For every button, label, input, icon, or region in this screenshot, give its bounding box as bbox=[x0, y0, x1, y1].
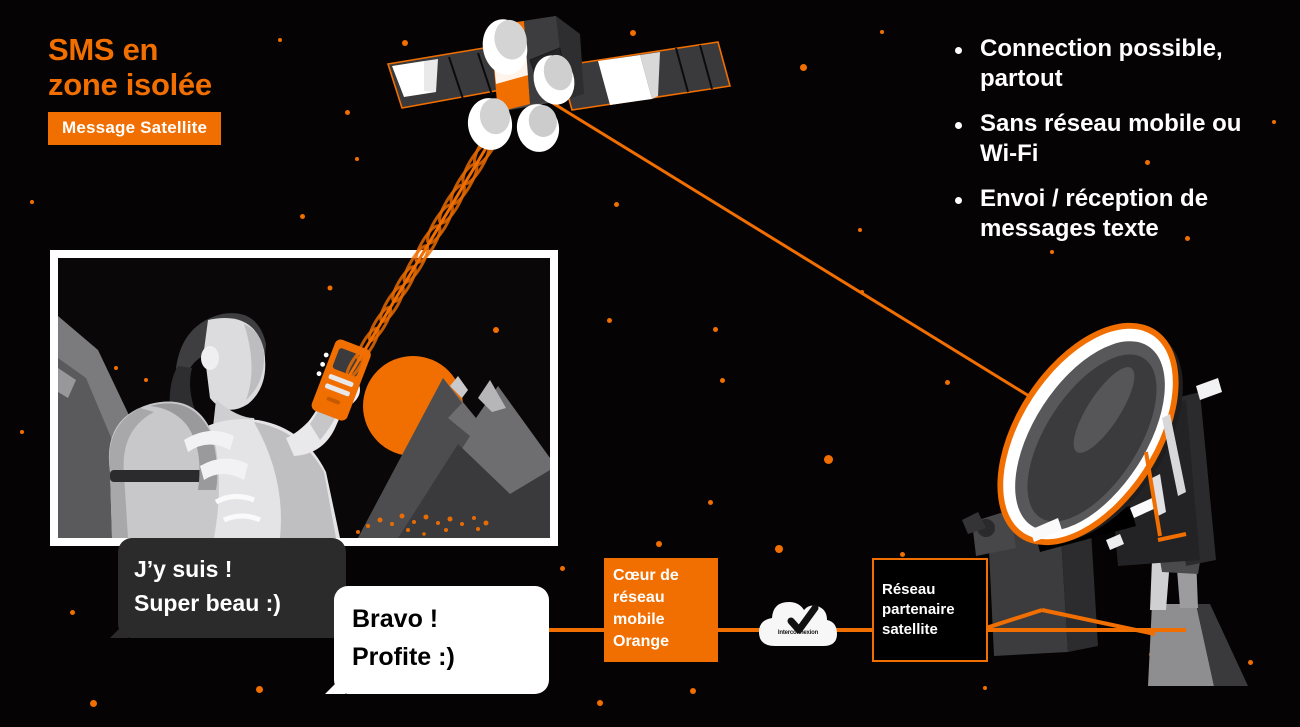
cloud-label: Interconnexion bbox=[778, 630, 818, 636]
feature-bullet-list: Connection possible, partout Sans réseau… bbox=[955, 34, 1275, 259]
interconnect-cloud-node: Interconnexion bbox=[757, 594, 839, 652]
core-box-line-3: mobile bbox=[613, 609, 709, 631]
list-item-label: Connection possible, partout bbox=[980, 34, 1275, 94]
page-title-line-1: SMS en bbox=[48, 32, 221, 67]
status-badge: Message Satellite bbox=[48, 112, 221, 145]
bullet-dot-icon bbox=[955, 122, 962, 129]
list-item: Sans réseau mobile ou Wi-Fi bbox=[955, 109, 1275, 169]
bubble-line-1: Bravo ! bbox=[352, 600, 531, 638]
core-box-line-2: réseau bbox=[613, 587, 709, 609]
bullet-dot-icon bbox=[955, 47, 962, 54]
partner-network-box: Réseau partenaire satellite bbox=[872, 558, 988, 662]
partner-box-lines: Réseau partenaire satellite bbox=[882, 580, 955, 640]
cloud-icon bbox=[757, 594, 839, 652]
bubble-line-1: J’y suis ! bbox=[134, 552, 330, 586]
speech-bubble-reply: Bravo ! Profite :) bbox=[334, 586, 549, 694]
infographic-canvas: SMS en zone isolée Message Satellite Con… bbox=[0, 0, 1300, 727]
page-title-line-2: zone isolée bbox=[48, 67, 221, 102]
bubble-line-2: Super beau :) bbox=[134, 586, 330, 620]
bubble-line-2: Profite :) bbox=[352, 638, 531, 676]
title-block: SMS en zone isolée Message Satellite bbox=[48, 32, 221, 145]
core-box-line-4: Orange bbox=[613, 631, 709, 653]
core-box-line-1: Cœur de bbox=[613, 565, 709, 587]
list-item-label: Sans réseau mobile ou Wi-Fi bbox=[980, 109, 1275, 169]
list-item: Envoi / réception de messages texte bbox=[955, 184, 1275, 244]
list-item: Connection possible, partout bbox=[955, 34, 1275, 94]
bullet-dot-icon bbox=[955, 197, 962, 204]
speech-bubble-hiker: J’y suis ! Super beau :) bbox=[118, 538, 346, 638]
partner-box-line-2: partenaire bbox=[882, 600, 955, 620]
core-network-box: Cœur de réseau mobile Orange bbox=[604, 558, 718, 662]
partner-box-line-3: satellite bbox=[882, 620, 955, 640]
list-item-label: Envoi / réception de messages texte bbox=[980, 184, 1275, 244]
partner-box-line-1: Réseau bbox=[882, 580, 955, 600]
